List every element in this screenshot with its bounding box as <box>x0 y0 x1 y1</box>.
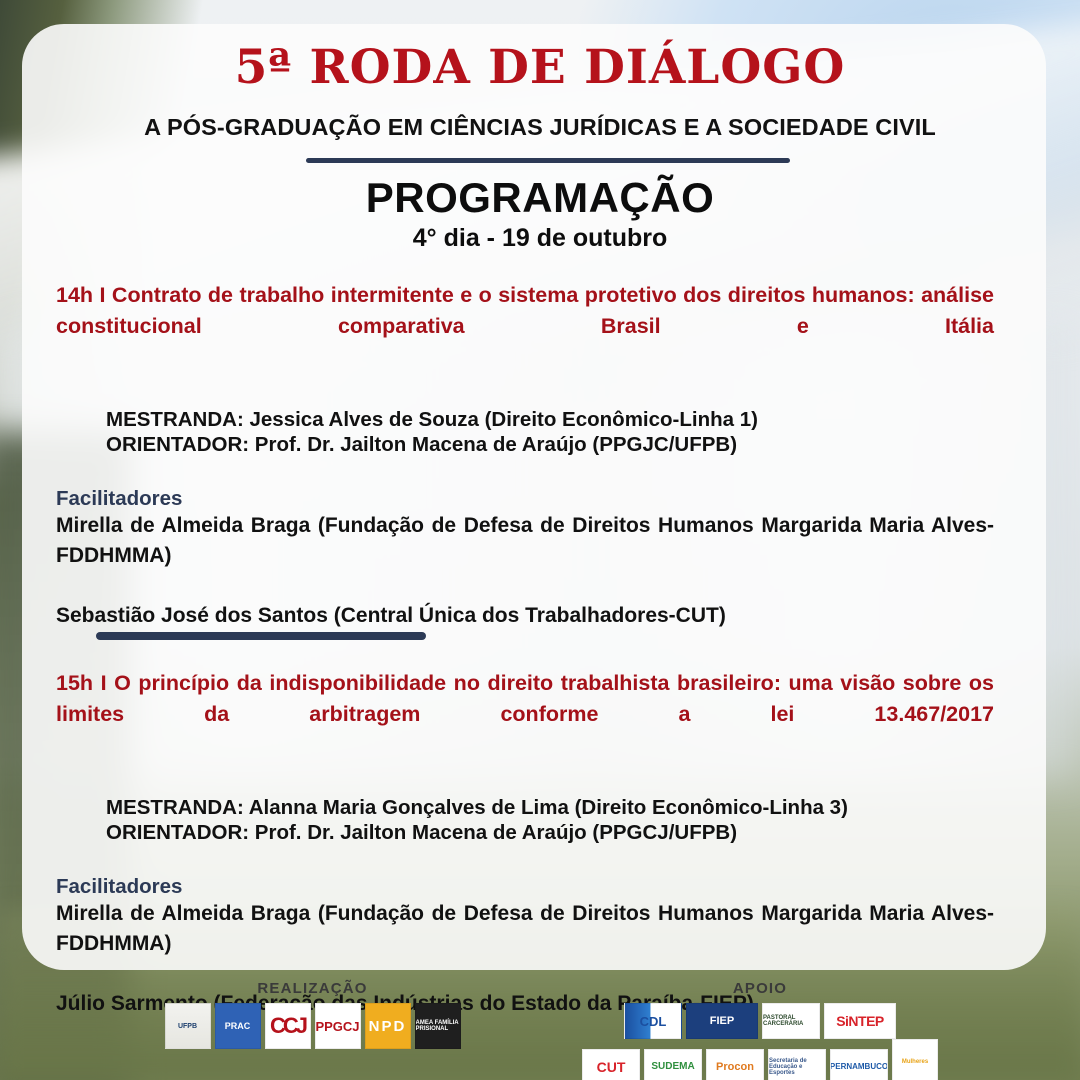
cdl-joao-pessoa-logo: CDL <box>624 1003 682 1039</box>
apoio-heading: APOIO <box>580 980 940 997</box>
session-1-facilitador-1: Mirella de Almeida Braga (Fundação de De… <box>56 514 994 597</box>
session-2-title: 15h I O princípio da indisponibilidade n… <box>56 668 994 761</box>
secretaria-educacao-esportes-logo: Secretaria de Educação e Esportes <box>768 1049 826 1080</box>
spacer <box>56 761 994 795</box>
sintep-logo: SiNTEP <box>824 1003 896 1039</box>
spacer <box>56 457 994 487</box>
mulheres-logo: Mulheres <box>892 1039 938 1080</box>
session-1-facilitador-2: Sebastião José dos Santos (Central Única… <box>56 601 994 631</box>
program-heading: PROGRAMAÇÃO <box>0 174 1080 222</box>
session-1-orientador: ORIENTADOR: Prof. Dr. Jailton Macena de … <box>106 432 994 457</box>
realizacao-heading: REALIZAÇÃO <box>140 980 485 997</box>
pernambuco-logo: PERNAMBUCO <box>830 1049 888 1080</box>
session-2-people: MESTRANDA: Alanna Maria Gonçalves de Lim… <box>56 795 994 845</box>
realizacao-logos: UFPB PRAC CCJ PPGCJ NPD AMEA FAMÍLIA PRI… <box>140 1003 485 1049</box>
spacer <box>56 845 994 875</box>
session-2-facilitador-1: Mirella de Almeida Braga (Fundação de De… <box>56 902 994 985</box>
session-block-1: 14h I Contrato de trabalho intermitente … <box>56 280 994 631</box>
divider-middle <box>96 632 426 640</box>
apoio-logos-row-1: CDL FIEP PASTORAL CARCERÁRIA SiNTEP <box>580 1003 940 1039</box>
poster: 5ª RODA DE DIÁLOGO A PÓS-GRADUAÇÃO EM CI… <box>0 0 1080 1080</box>
footer: REALIZAÇÃO UFPB PRAC CCJ PPGCJ NPD AMEA … <box>0 980 1080 1080</box>
apoio-logos-row-2: CUT SUDEMA Procon Secretaria de Educação… <box>580 1039 940 1080</box>
session-2-mestranda: MESTRANDA: Alanna Maria Gonçalves de Lim… <box>106 795 994 820</box>
ccj-logo: CCJ <box>265 1003 311 1049</box>
procon-paraiba-logo: Procon <box>706 1049 764 1080</box>
realizacao-section: REALIZAÇÃO UFPB PRAC CCJ PPGCJ NPD AMEA … <box>140 980 485 1049</box>
session-1-mestranda: MESTRANDA: Jessica Alves de Souza (Direi… <box>106 407 994 432</box>
session-2-facilitadores-label: Facilitadores <box>56 875 994 899</box>
ppgcj-logo: PPGCJ <box>315 1003 361 1049</box>
session-1-people: MESTRANDA: Jessica Alves de Souza (Direi… <box>56 407 994 457</box>
npd-logo: NPD <box>365 1003 411 1049</box>
page-title: 5ª RODA DE DIÁLOGO <box>0 40 1080 95</box>
page-subtitle: A PÓS-GRADUAÇÃO EM CIÊNCIAS JURÍDICAS E … <box>0 114 1080 141</box>
cut-logo: CUT <box>582 1049 640 1080</box>
divider-top <box>306 158 790 163</box>
session-1-facilitadores: Mirella de Almeida Braga (Fundação de De… <box>56 511 994 631</box>
amea-logo: AMEA FAMÍLIA PRISIONAL <box>415 1003 461 1049</box>
session-1-title: 14h I Contrato de trabalho intermitente … <box>56 280 994 373</box>
prac-logo: PRAC <box>215 1003 261 1049</box>
ufpb-logo: UFPB <box>165 1003 211 1049</box>
program-day: 4° dia - 19 de outubro <box>0 224 1080 253</box>
spacer <box>56 373 994 407</box>
page-title-text: 5ª RODA DE DIÁLOGO <box>235 40 846 95</box>
session-1-facilitadores-label: Facilitadores <box>56 487 994 511</box>
fiep-logo: FIEP <box>686 1003 758 1039</box>
sudema-logo: SUDEMA <box>644 1049 702 1080</box>
session-2-orientador: ORIENTADOR: Prof. Dr. Jailton Macena de … <box>106 820 994 845</box>
apoio-section: APOIO CDL FIEP PASTORAL CARCERÁRIA SiNTE… <box>580 980 940 1080</box>
session-block-2: 15h I O princípio da indisponibilidade n… <box>56 668 994 1019</box>
pastoral-carceraria-logo: PASTORAL CARCERÁRIA <box>762 1003 820 1039</box>
